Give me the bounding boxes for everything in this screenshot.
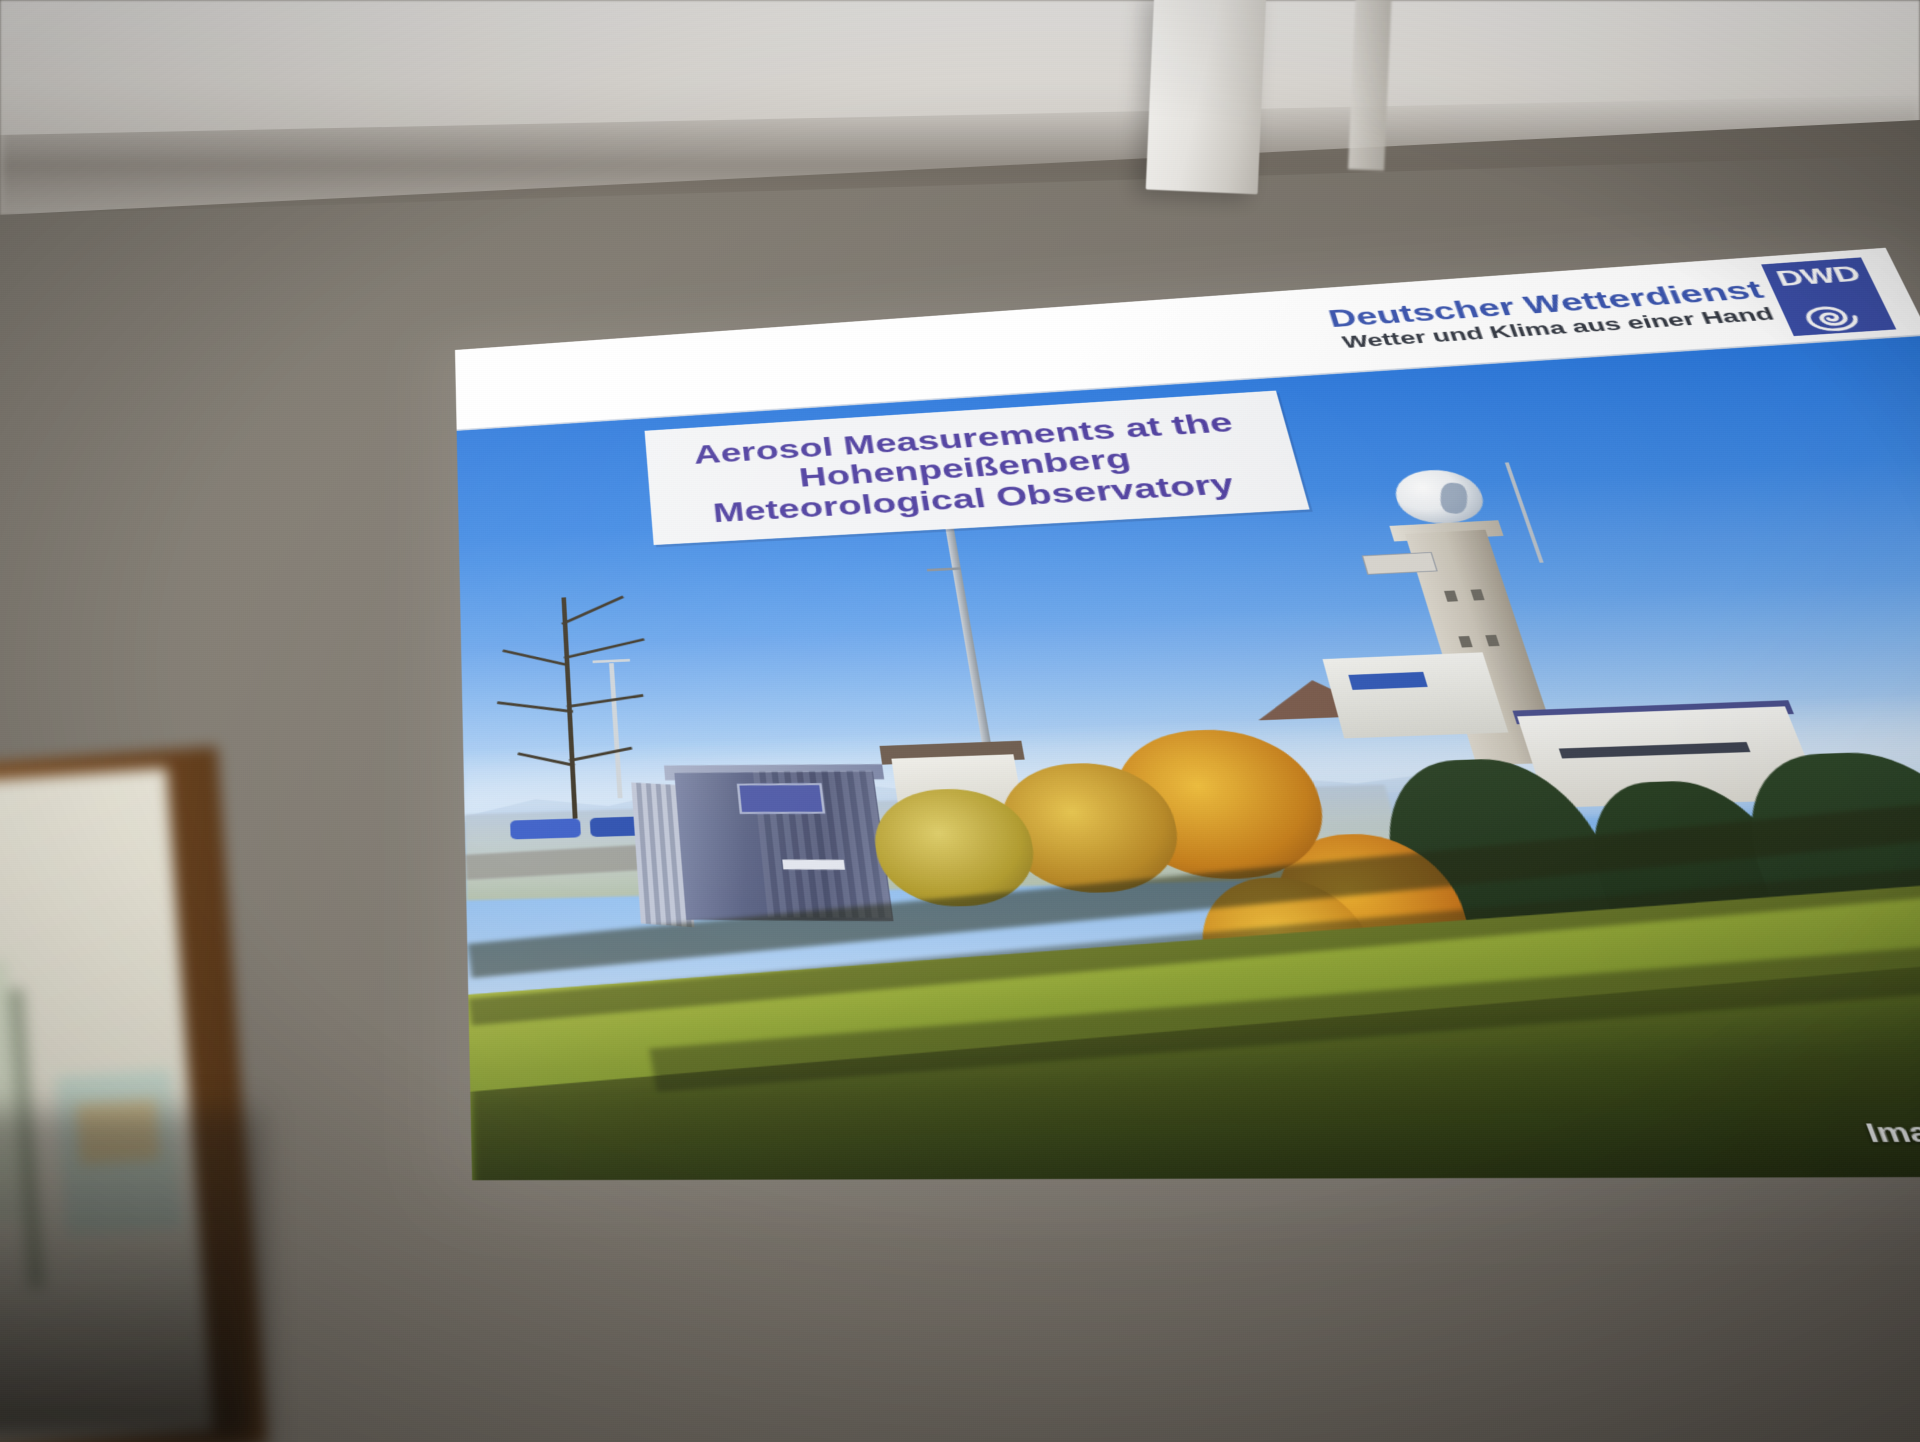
building-sign <box>1348 672 1427 690</box>
presentation-slide[interactable]: Deutscher Wetterdienst Wetter und Klima … <box>455 248 1920 1181</box>
radome-shading <box>1440 482 1468 515</box>
container-label <box>782 860 845 870</box>
tree-branch <box>502 649 566 666</box>
car <box>510 818 581 839</box>
dwd-logo-text: DWD <box>1763 261 1875 292</box>
tree-branch <box>566 694 643 708</box>
tree-branch <box>564 638 645 659</box>
container-placard <box>737 783 826 814</box>
bare-tree <box>483 593 671 821</box>
observatory-building <box>1323 652 1509 738</box>
tree-branch <box>561 596 624 626</box>
tree-trunk <box>561 597 577 818</box>
tower-balcony <box>1362 552 1438 575</box>
tree-branch <box>517 752 575 767</box>
tree-branch <box>497 701 573 713</box>
slide-title: Aerosol Measurements at the Hohenpeißenb… <box>681 406 1265 530</box>
tree-branch <box>569 747 632 762</box>
dwd-spiral-icon <box>1796 302 1879 334</box>
photo-of-projected-slide: Deutscher Wetterdienst Wetter und Klima … <box>0 0 1920 1442</box>
projection-area: Deutscher Wetterdienst Wetter und Klima … <box>0 0 1920 1442</box>
